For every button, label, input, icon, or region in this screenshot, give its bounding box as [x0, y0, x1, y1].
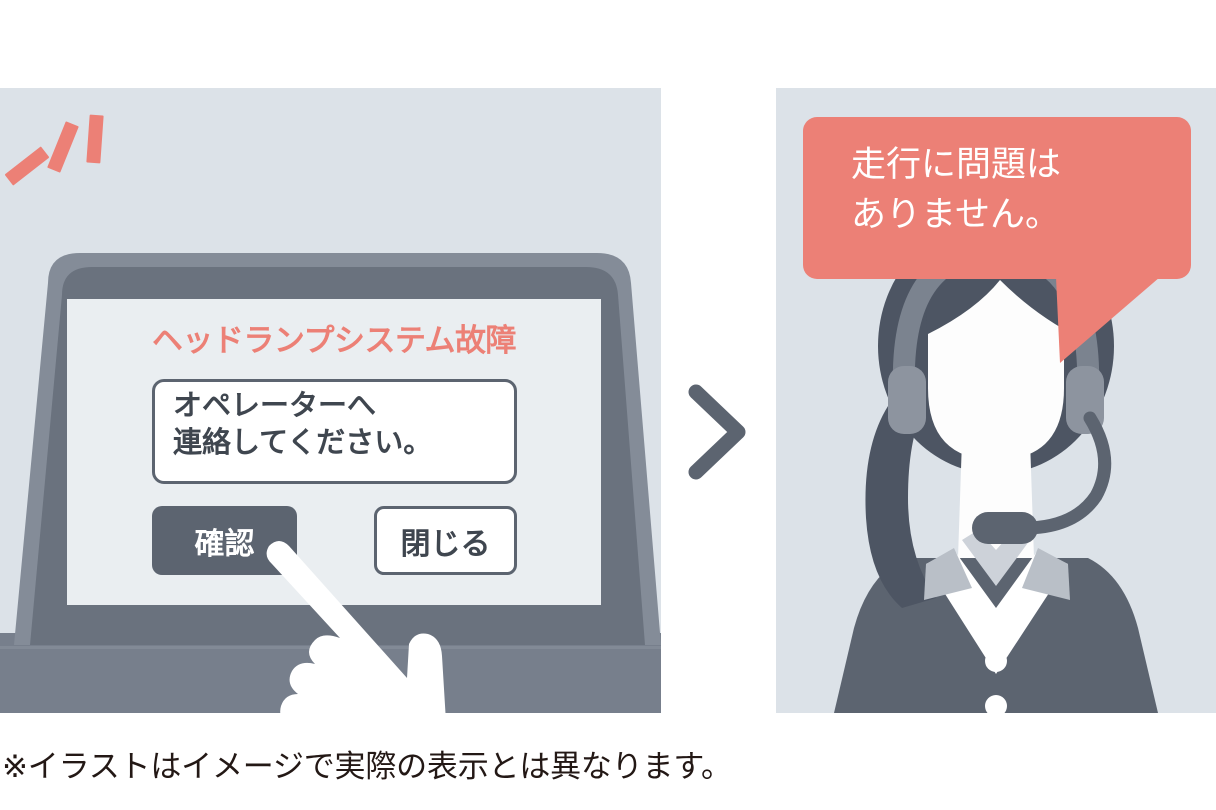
illustration-canvas: ヘッドランプシステム故障 オペレーターへ 連絡してください。 確認 閉じる [0, 0, 1216, 810]
pointing-hand-icon [245, 528, 545, 713]
speech-bubble-text: 走行に問題は ありません。 [851, 140, 1181, 239]
message-text: オペレーターへ 連絡してください。 [173, 388, 503, 462]
speech-bubble-tail [1056, 277, 1196, 387]
chevron-right-icon [682, 382, 772, 482]
left-panel-error-screen: ヘッドランプシステム故障 オペレーターへ 連絡してください。 確認 閉じる [0, 88, 661, 713]
caption-note: ※イラストはイメージで実際の表示とは異なります。 [2, 741, 732, 786]
speech-bubble: 走行に問題は ありません。 [803, 117, 1191, 279]
message-box: オペレーターへ 連絡してください。 [152, 379, 517, 484]
error-title: ヘッドランプシステム故障 [67, 315, 601, 360]
